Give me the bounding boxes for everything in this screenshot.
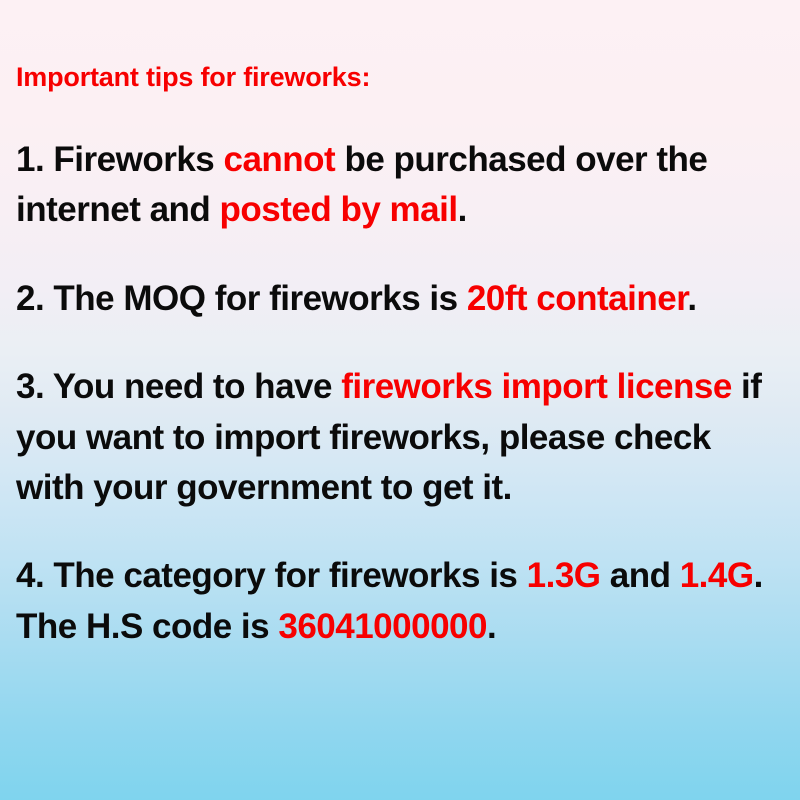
tip-paragraph: 4. The category for fireworks is 1.3G an… [16, 551, 786, 652]
tip-highlight-text: cannot [223, 140, 335, 179]
tip-highlight-text: posted by mail [220, 190, 458, 229]
tip-text: 4. The category for fireworks is [16, 556, 527, 595]
tip-text: 2. The MOQ for fireworks is [16, 279, 467, 318]
tip-paragraph: 1. Fireworks cannot be purchased over th… [16, 135, 786, 236]
page-title: Important tips for fireworks: [16, 62, 786, 93]
tip-highlight-text: 1.4G [680, 556, 754, 595]
tip-highlight-text: 20ft container [467, 279, 688, 318]
tip-text: . [458, 190, 467, 229]
tip-highlight-text: 1.3G [527, 556, 601, 595]
tip-highlight-text: fireworks import license [341, 367, 732, 406]
tip-text: . [487, 607, 496, 646]
fireworks-tips-card: Important tips for fireworks: 1. Firewor… [0, 0, 800, 800]
tip-paragraph: 2. The MOQ for fireworks is 20ft contain… [16, 274, 786, 324]
tip-text: 1. Fireworks [16, 140, 223, 179]
tip-text: and [601, 556, 680, 595]
tip-text: . [687, 279, 696, 318]
tip-text: 3. You need to have [16, 367, 341, 406]
tips-list: 1. Fireworks cannot be purchased over th… [16, 135, 786, 652]
tip-paragraph: 3. You need to have fireworks import lic… [16, 362, 786, 513]
tip-highlight-text: 36041000000 [278, 607, 487, 646]
